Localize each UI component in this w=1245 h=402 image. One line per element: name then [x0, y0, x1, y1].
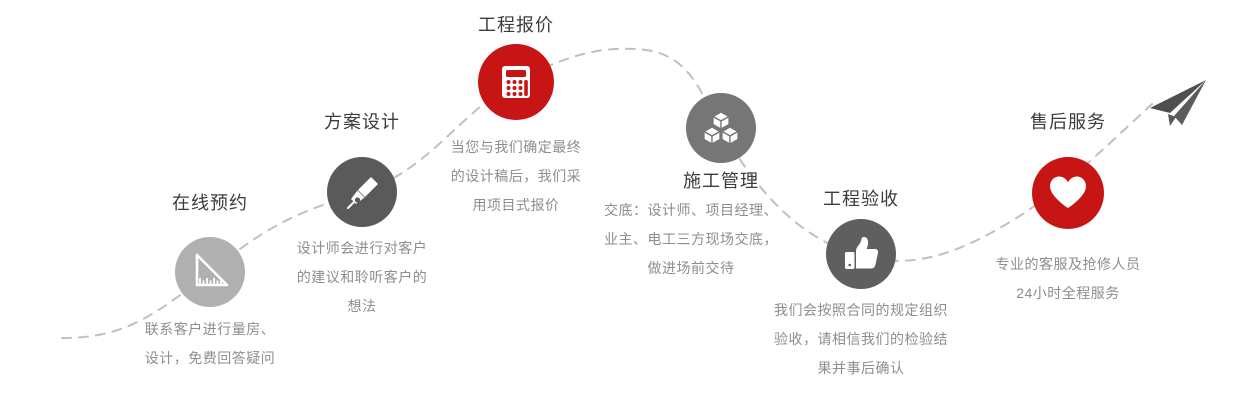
paper-plane-icon [1148, 78, 1210, 135]
step-description: 当您与我们确定最终的设计稿后，我们采用项目式报价 [446, 133, 586, 220]
step-icon-circle[interactable] [478, 44, 554, 120]
stacked-blocks-icon [700, 107, 742, 149]
set-square-ruler-icon [189, 251, 231, 293]
step-icon-circle[interactable] [826, 219, 896, 289]
step-title: 工程报价 [446, 14, 586, 36]
step-description: 交底：设计师、项目经理、业主、电工三方现场交底，做进场前交待 [601, 196, 781, 283]
process-flow-diagram: 在线预约 联系客户进行量房、设计，免费回答疑问 [0, 0, 1245, 402]
step-title: 工程验收 [791, 188, 931, 210]
step-title: 售后服务 [998, 111, 1138, 133]
step-title: 方案设计 [292, 111, 432, 133]
step-icon-circle[interactable] [327, 157, 397, 227]
heart-icon [1047, 173, 1089, 213]
step-description: 设计师会进行对客户的建议和聆听客户的想法 [292, 234, 432, 321]
fountain-pen-nib-icon [341, 171, 383, 213]
step-icon-circle[interactable] [175, 237, 245, 307]
step-title: 在线预约 [140, 192, 280, 214]
step-icon-circle[interactable] [686, 93, 756, 163]
step-description: 我们会按照合同的规定组织验收，请相信我们的检验结果并事后确认 [771, 296, 951, 383]
step-title: 施工管理 [651, 170, 791, 192]
step-description: 联系客户进行量房、设计，免费回答疑问 [140, 315, 280, 373]
thumbs-up-icon [840, 233, 882, 275]
calculator-icon [494, 60, 538, 104]
step-icon-circle[interactable] [1032, 157, 1104, 229]
step-description: 专业的客服及抢修人员24小时全程服务 [988, 250, 1148, 308]
